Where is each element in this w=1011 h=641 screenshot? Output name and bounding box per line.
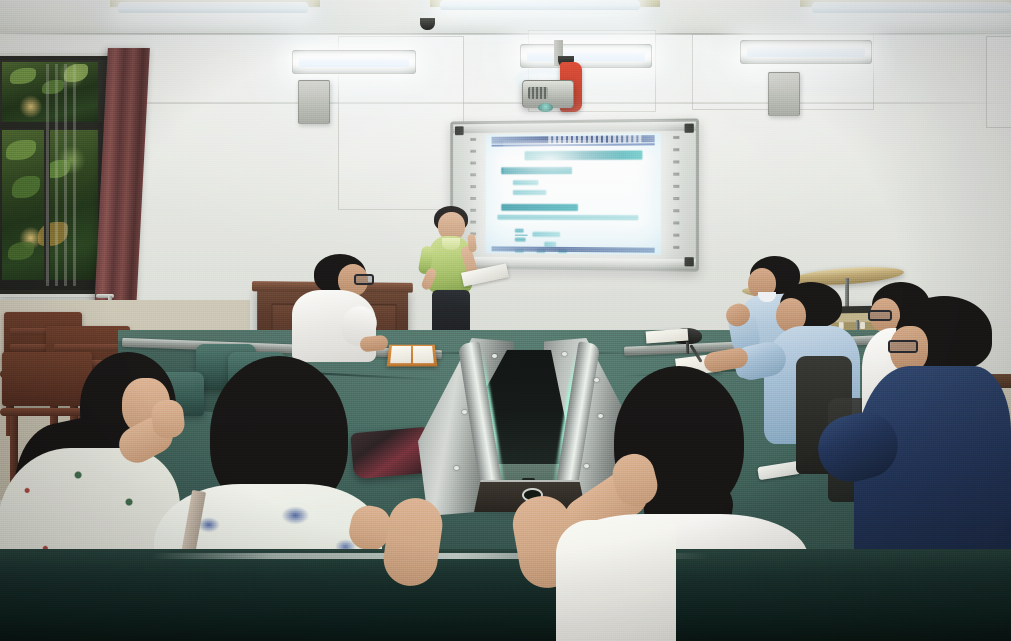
boat-rivet xyxy=(462,410,467,414)
slide-subtext-2 xyxy=(513,190,546,195)
slide-subtext-1 xyxy=(513,180,538,185)
microphone-stem xyxy=(686,342,689,354)
slide-title-text xyxy=(525,150,643,160)
presenter-collar xyxy=(442,238,460,250)
wall-tube-right-icon xyxy=(740,40,872,64)
wall-panel-far-right xyxy=(986,36,1011,128)
foreground-sleeve-right xyxy=(556,520,676,641)
slide-formula-rhs-1 xyxy=(532,232,560,237)
wall-tube-left-icon xyxy=(292,50,416,74)
projector-lens-icon xyxy=(538,103,553,112)
table-front-edge xyxy=(0,549,1011,641)
ceiling-tube-right-icon xyxy=(812,2,1011,13)
boat-rivet xyxy=(492,354,497,358)
eyeglasses-icon xyxy=(888,340,918,353)
boat-rivet xyxy=(562,352,567,356)
ceiling-tube-mid-icon xyxy=(440,0,640,10)
ceiling-projector xyxy=(510,40,606,112)
eyeglasses-icon xyxy=(354,274,374,285)
projected-slide xyxy=(486,133,661,255)
slide-app-titlebar xyxy=(492,135,655,144)
window-security-bars xyxy=(46,64,80,286)
whiteboard-corner-marker xyxy=(455,126,464,135)
slide-formula-line xyxy=(497,215,638,221)
slide-fraction-1 xyxy=(515,229,528,242)
slide-heading-2 xyxy=(501,204,578,211)
photo-scene: 多元函数微分学基本概念 1. 偏导数和全微分 2. 几个偏导数公式 xyxy=(0,0,1011,641)
window-left xyxy=(0,56,112,294)
boat-rivet xyxy=(454,466,459,470)
slide-body xyxy=(495,148,654,244)
slide-heading-1 xyxy=(501,167,572,174)
whiteboard-right-toolstrip[interactable] xyxy=(673,136,679,254)
slide-rule xyxy=(492,143,655,146)
projector-vent xyxy=(528,87,548,99)
attendee-left-hand xyxy=(359,335,388,353)
whiteboard-corner-marker xyxy=(684,124,693,133)
whiteboard-corner-marker xyxy=(684,257,693,266)
ceiling-tube-left-icon xyxy=(118,2,308,13)
whiteboard-frame-top xyxy=(453,121,696,133)
wall-speaker-right-icon xyxy=(768,72,800,116)
wall-speaker-left-icon xyxy=(298,80,330,124)
presenter-pointing-finger xyxy=(467,234,477,253)
